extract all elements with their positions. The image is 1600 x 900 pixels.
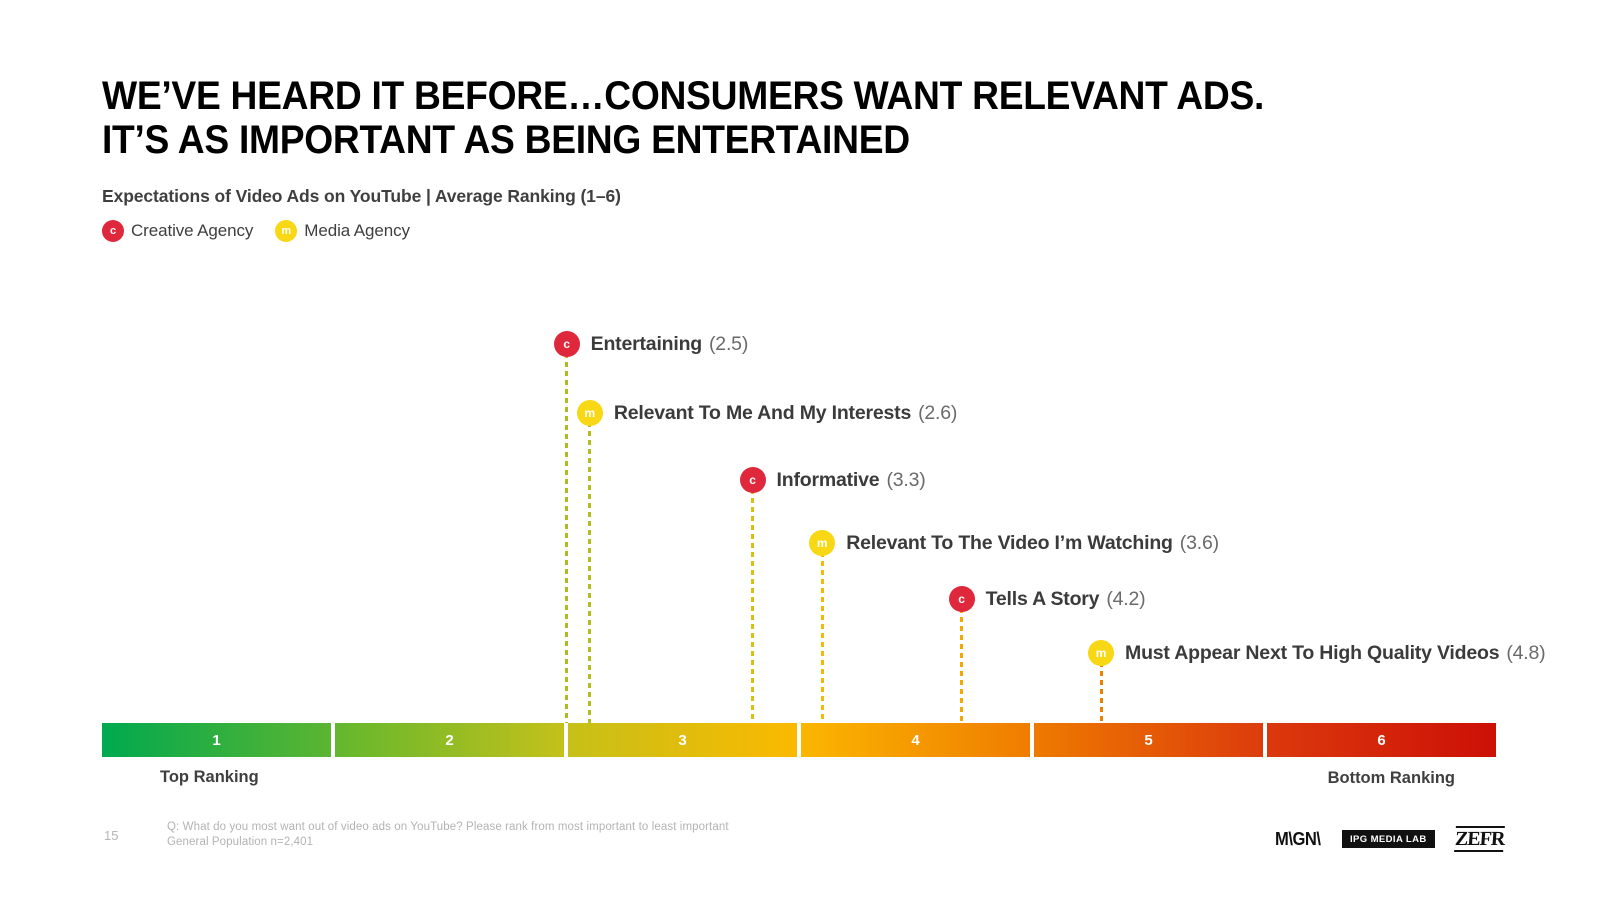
- scale-segment-4: 4: [801, 723, 1030, 757]
- point-stem: [821, 552, 824, 723]
- data-point-value: (4.2): [1106, 588, 1145, 611]
- data-point-value: (4.8): [1506, 642, 1545, 665]
- scale-segment-3: 3: [568, 723, 797, 757]
- media-agency-badge-icon: m: [275, 220, 297, 242]
- chart-legend: c Creative Agency m Media Agency: [102, 220, 410, 242]
- data-point-label: Informative: [777, 469, 880, 492]
- source-note: Q: What do you most want out of video ad…: [167, 820, 729, 849]
- data-point-tells-a-story[interactable]: cTells A Story(4.2): [949, 586, 1146, 612]
- axis-label-top-ranking: Top Ranking: [160, 768, 259, 787]
- logo-group: M\GN\ IPG MEDIA LAB ZEFR: [1273, 826, 1504, 852]
- data-point-value: (3.6): [1180, 532, 1219, 555]
- data-point-label: Entertaining: [591, 333, 702, 356]
- point-stem: [751, 489, 754, 723]
- legend-label-media-agency: Media Agency: [304, 221, 410, 241]
- media-agency-badge-icon: m: [1088, 640, 1114, 666]
- data-point-label: Must Appear Next To High Quality Videos: [1125, 642, 1499, 665]
- scale-segment-1: 1: [102, 723, 331, 757]
- creative-agency-badge-icon: c: [740, 467, 766, 493]
- data-point-label: Relevant To The Video I’m Watching: [846, 532, 1173, 555]
- scale-segment-6: 6: [1267, 723, 1496, 757]
- creative-agency-badge-icon: c: [102, 220, 124, 242]
- data-point-informative[interactable]: cInformative(3.3): [740, 467, 926, 493]
- legend-label-creative-agency: Creative Agency: [131, 221, 253, 241]
- ipg-media-lab-logo: IPG MEDIA LAB: [1342, 830, 1435, 849]
- data-point-value: (2.5): [709, 333, 748, 356]
- data-point-value: (2.6): [918, 402, 957, 425]
- magna-logo: M\GN\: [1274, 829, 1320, 850]
- data-point-relevant-to-the-video-i-m-watching[interactable]: mRelevant To The Video I’m Watching(3.6): [809, 530, 1219, 556]
- chart-subtitle: Expectations of Video Ads on YouTube | A…: [102, 186, 621, 207]
- legend-item-creative-agency[interactable]: c Creative Agency: [102, 220, 253, 242]
- data-point-value: (3.3): [886, 469, 925, 492]
- point-stem: [588, 422, 591, 723]
- legend-item-media-agency[interactable]: m Media Agency: [275, 220, 410, 242]
- page-title: WE’VE HEARD IT BEFORE…CONSUMERS WANT REL…: [102, 74, 1404, 162]
- point-stem: [960, 608, 963, 723]
- data-point-entertaining[interactable]: cEntertaining(2.5): [554, 331, 748, 357]
- point-stem: [1100, 662, 1103, 723]
- scale-segment-2: 2: [335, 723, 564, 757]
- page-number: 15: [104, 828, 118, 843]
- media-agency-badge-icon: m: [809, 530, 835, 556]
- media-agency-badge-icon: m: [577, 400, 603, 426]
- data-point-relevant-to-me-and-my-interests[interactable]: mRelevant To Me And My Interests(2.6): [577, 400, 957, 426]
- data-point-label: Relevant To Me And My Interests: [614, 402, 911, 425]
- axis-label-bottom-ranking: Bottom Ranking: [1328, 769, 1455, 788]
- creative-agency-badge-icon: c: [554, 331, 580, 357]
- data-point-label: Tells A Story: [986, 588, 1100, 611]
- scale-segment-5: 5: [1034, 723, 1263, 757]
- ranking-scale-bar: 123456: [102, 723, 1496, 757]
- point-stem: [565, 353, 568, 723]
- creative-agency-badge-icon: c: [949, 586, 975, 612]
- data-point-must-appear-next-to-high-quality-videos[interactable]: mMust Appear Next To High Quality Videos…: [1088, 640, 1545, 666]
- zefr-logo: ZEFR: [1454, 826, 1505, 852]
